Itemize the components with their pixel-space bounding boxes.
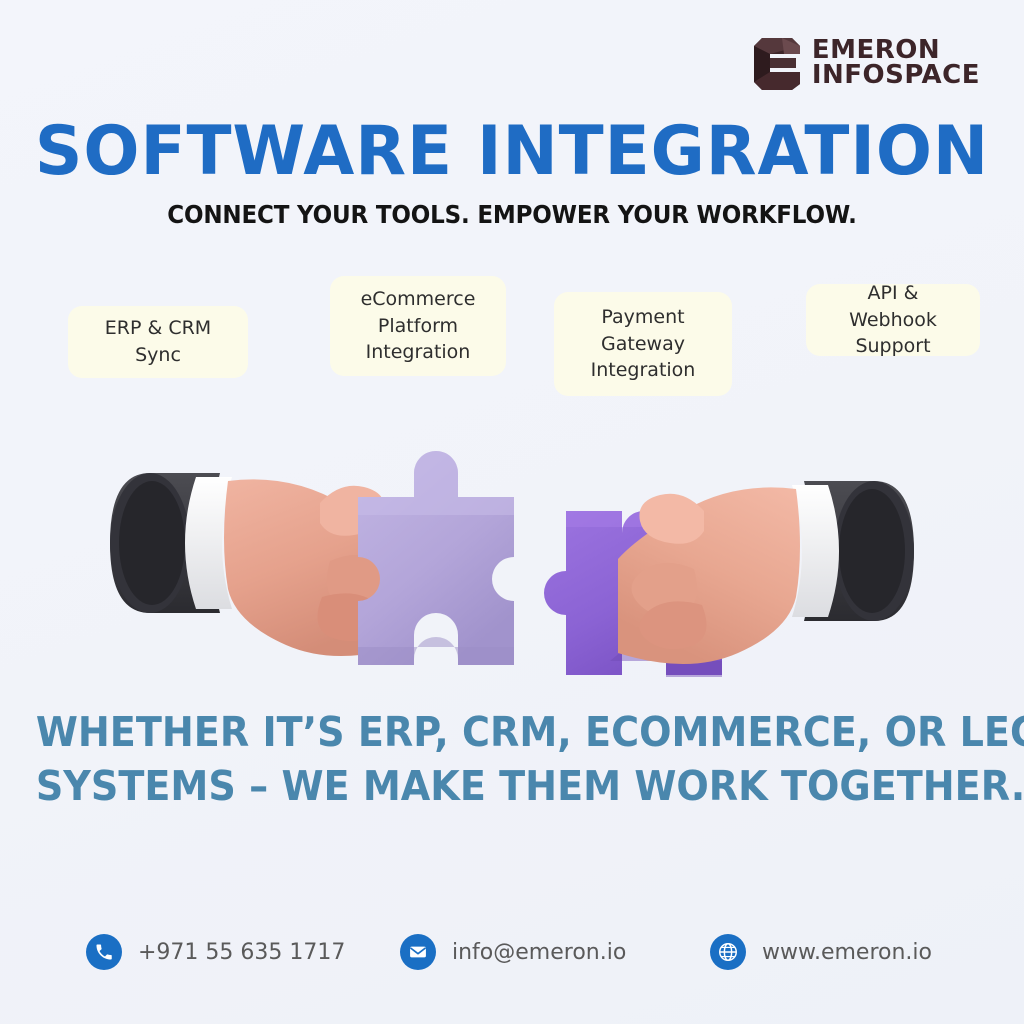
contact-website[interactable]: www.emeron.io xyxy=(710,934,932,970)
feature-tag: eCommerce Platform Integration xyxy=(330,276,506,376)
feature-tag: API & Webhook Support xyxy=(806,284,980,356)
hands-puzzle-illustration xyxy=(0,385,1024,685)
feature-tag-group: ERP & CRM Sync eCommerce Platform Integr… xyxy=(0,270,1024,400)
feature-tag: Payment Gateway Integration xyxy=(554,292,732,396)
contact-website-value: www.emeron.io xyxy=(762,940,932,965)
page-subtitle: CONNECT YOUR TOOLS. EMPOWER YOUR WORKFLO… xyxy=(41,200,983,229)
headline: WHETHER IT’S ERP, CRM, ECOMMERCE, OR LEG… xyxy=(36,705,988,813)
contact-email-value: info@emeron.io xyxy=(452,940,626,965)
email-icon xyxy=(400,934,436,970)
headline-line2: SYSTEMS – WE MAKE THEM WORK TOGETHER. xyxy=(36,759,988,813)
contact-phone-value: +971 55 635 1717 xyxy=(138,940,345,965)
phone-icon xyxy=(86,934,122,970)
page-title: SOFTWARE INTEGRATION xyxy=(15,112,1008,191)
contact-footer: +971 55 635 1717 info@emeron.io xyxy=(0,930,1024,986)
contact-phone[interactable]: +971 55 635 1717 xyxy=(86,934,345,970)
headline-line1: WHETHER IT’S ERP, CRM, ECOMMERCE, OR LEG… xyxy=(36,705,988,759)
contact-email[interactable]: info@emeron.io xyxy=(400,934,626,970)
left-puzzle-piece xyxy=(358,451,514,665)
globe-icon xyxy=(710,934,746,970)
brand-logo: EMERON INFOSPACE xyxy=(754,34,980,92)
right-arm xyxy=(618,481,914,664)
poster-canvas: EMERON INFOSPACE SOFTWARE INTEGRATION CO… xyxy=(0,0,1024,1024)
brand-name-line2: INFOSPACE xyxy=(812,63,980,88)
emeron-e-mark-icon xyxy=(754,34,800,92)
brand-name: EMERON INFOSPACE xyxy=(812,38,980,88)
feature-tag: ERP & CRM Sync xyxy=(68,306,248,378)
